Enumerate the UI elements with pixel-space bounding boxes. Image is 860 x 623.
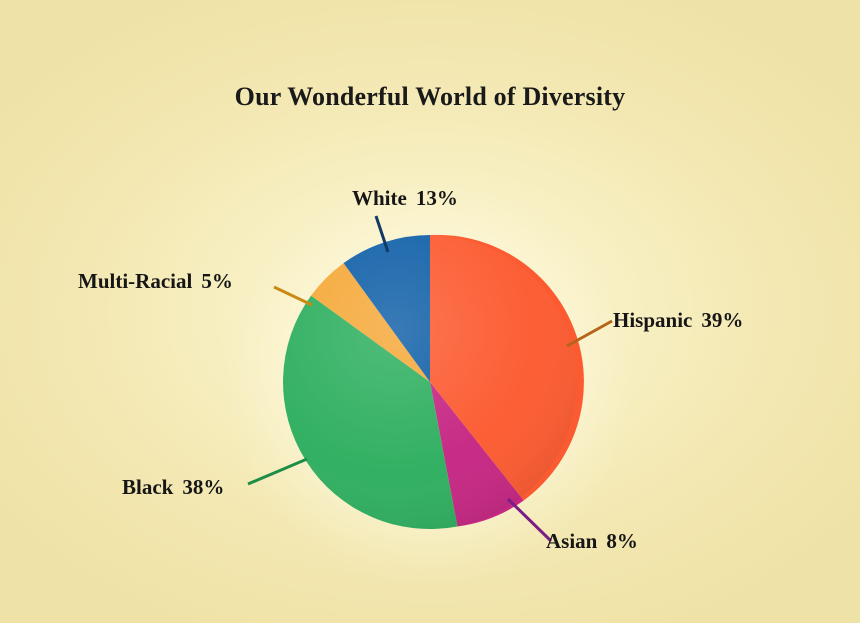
pie-chart-figure: Our Wonderful World of Diversity xyxy=(0,0,860,623)
pie-label-black: Black38% xyxy=(122,477,224,498)
pie-label-hispanic-name: Hispanic xyxy=(613,308,692,332)
pie-label-white: White13% xyxy=(352,188,458,209)
pie-label-multiracial-value: 5% xyxy=(201,269,233,293)
pie-label-multiracial-name: Multi-Racial xyxy=(78,269,192,293)
pie-label-multiracial: Multi-Racial5% xyxy=(78,271,233,292)
pie-label-black-value: 38% xyxy=(182,475,224,499)
pie-label-white-name: White xyxy=(352,186,407,210)
pie-label-asian: Asian8% xyxy=(546,531,638,552)
pie-label-asian-name: Asian xyxy=(546,529,597,553)
pie-sheen xyxy=(283,235,577,529)
pie-label-asian-value: 8% xyxy=(606,529,638,553)
pie-label-black-name: Black xyxy=(122,475,173,499)
pie-label-hispanic: Hispanic39% xyxy=(613,310,743,331)
pie-label-hispanic-value: 39% xyxy=(701,308,743,332)
pie-label-white-value: 13% xyxy=(416,186,458,210)
